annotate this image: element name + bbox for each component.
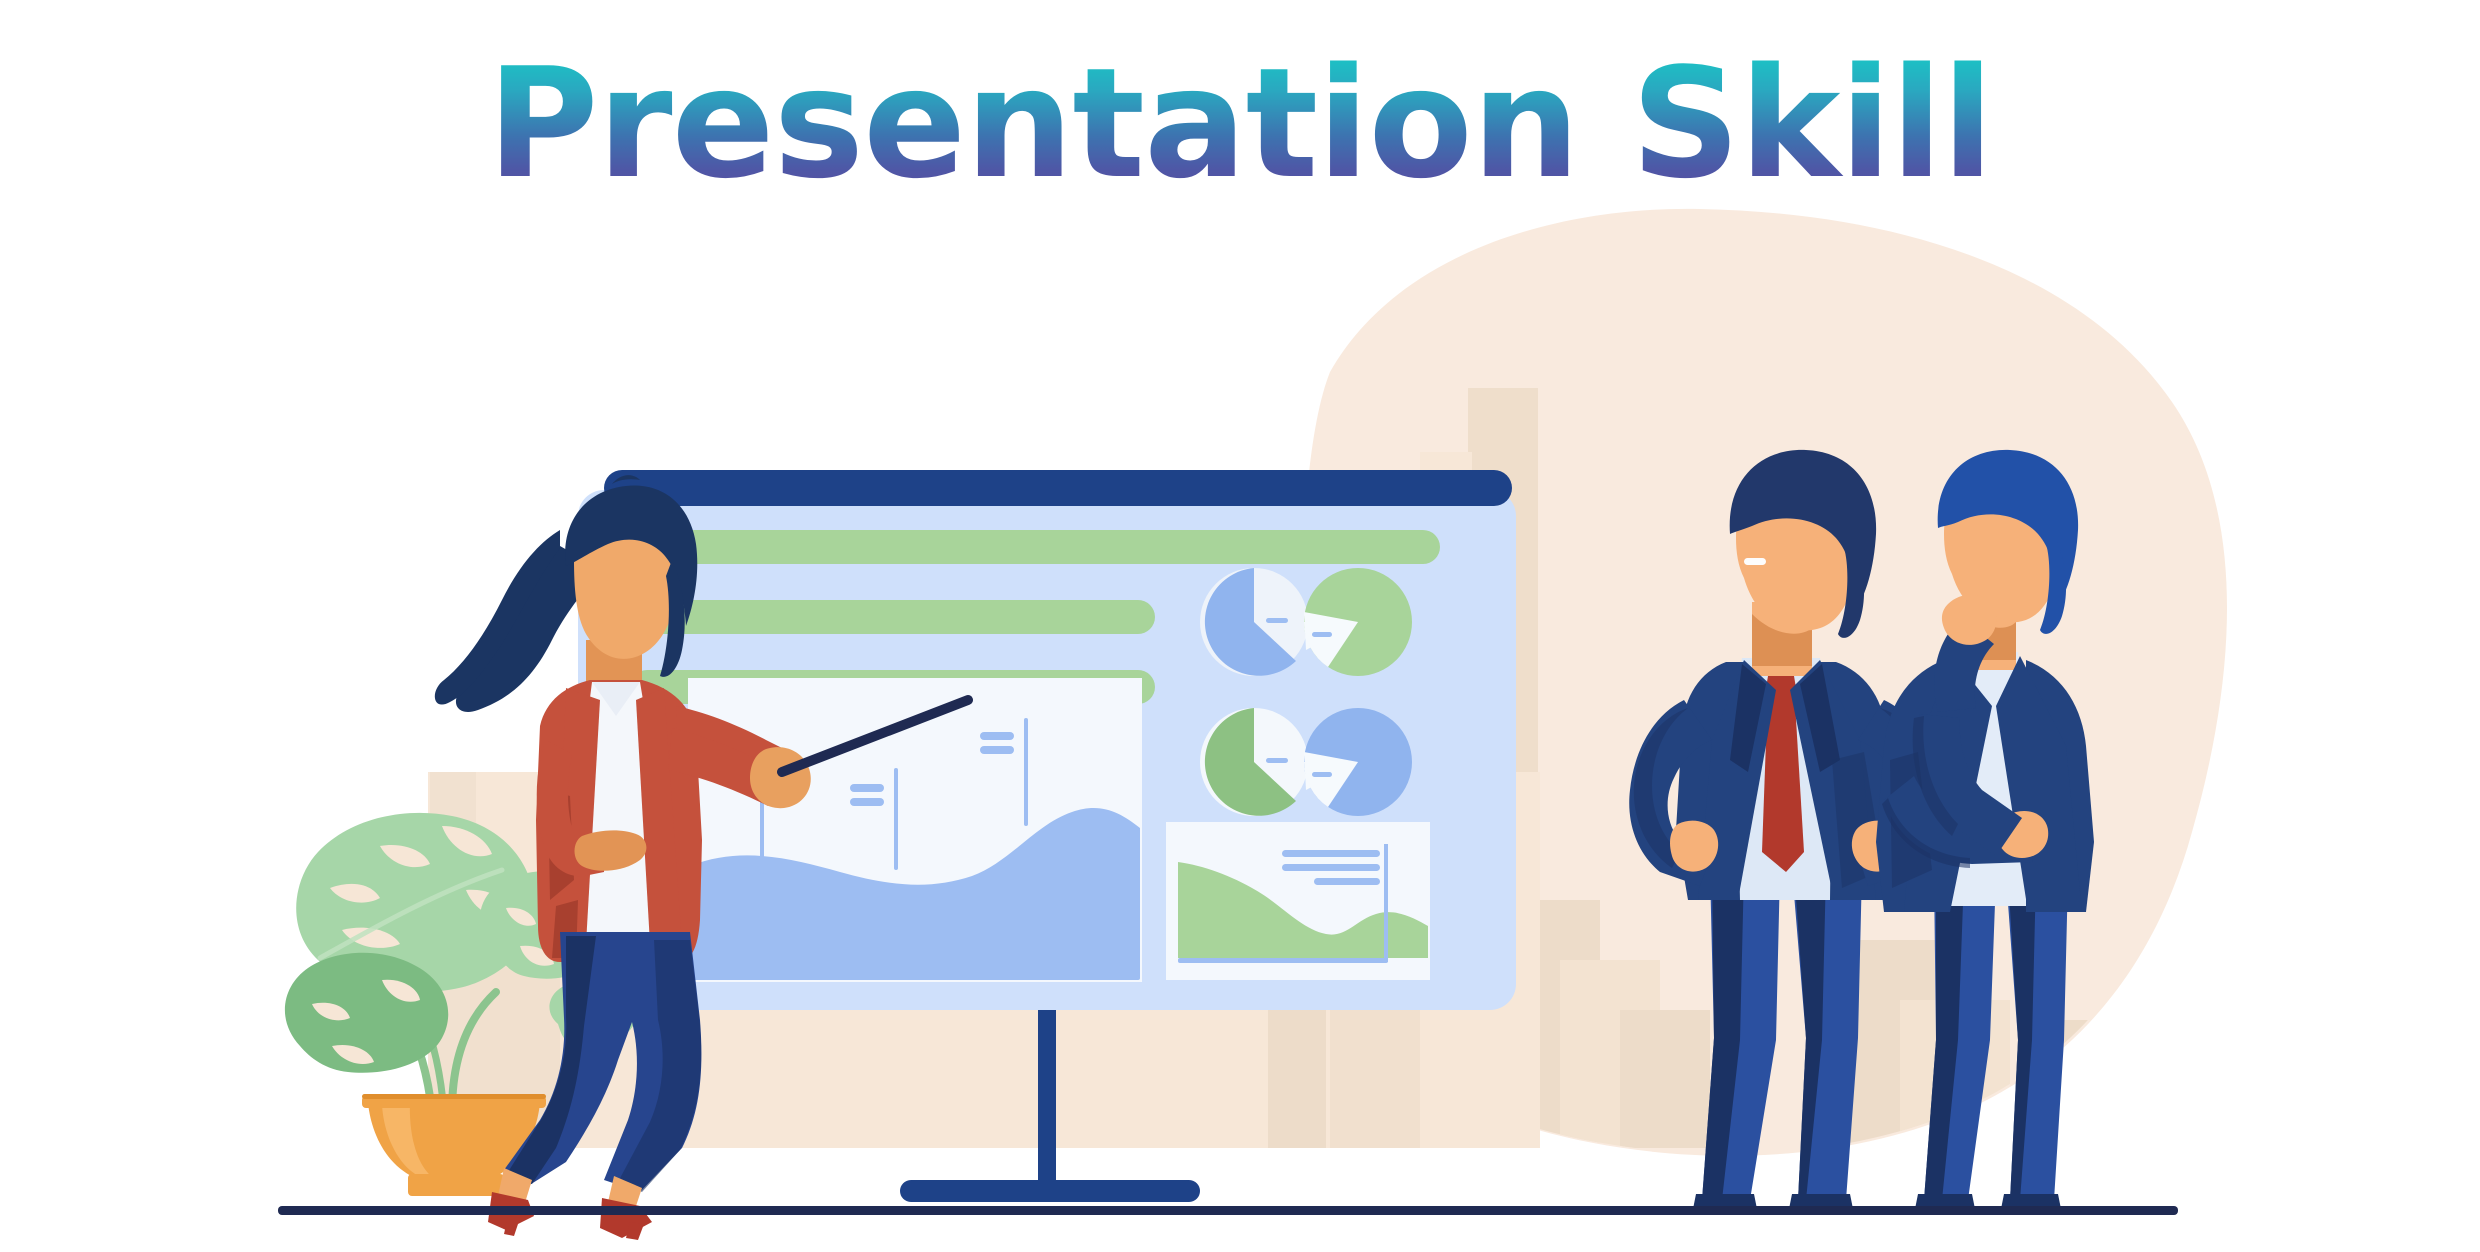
pie-chart-top-left[interactable]: [1200, 568, 1308, 676]
pie-chart-bottom-right[interactable]: [1304, 708, 1412, 816]
illustration-stage: Presentation Skill: [0, 0, 2480, 1252]
main-chart-label-2a: [980, 732, 1014, 740]
presentation-scene: [0, 0, 2480, 1252]
card-text-line-2: [1282, 864, 1380, 871]
card-text-line-3: [1314, 878, 1380, 885]
bullet-bar-2: [630, 600, 1155, 634]
main-chart-label-1a: [850, 784, 884, 792]
pie-chart-top-right[interactable]: [1304, 568, 1412, 676]
woman-shoe-right: [600, 1198, 652, 1238]
pie-4-tick: [1312, 772, 1332, 777]
card-axis-horizontal: [1178, 958, 1388, 963]
pie-3-tick: [1266, 758, 1288, 763]
pie-2-tick: [1312, 632, 1332, 637]
board-stand-pole: [1038, 1000, 1056, 1180]
board-header-bar: [604, 470, 1512, 506]
floor-line: [278, 1206, 2178, 1215]
plant-pot-base: [408, 1174, 504, 1196]
pie-1-tick: [1266, 618, 1288, 623]
man1-eye: [1744, 558, 1766, 565]
card-axis-vertical: [1384, 844, 1388, 962]
pie-chart-bottom-left[interactable]: [1200, 708, 1308, 816]
board-stand-foot: [900, 1180, 1200, 1202]
plant-pot-rim-line: [362, 1094, 546, 1099]
card-text-line-1: [1282, 850, 1380, 857]
board-card-area-chart[interactable]: [1166, 822, 1430, 980]
main-chart-label-2b: [980, 746, 1014, 754]
main-chart-marker-3: [1024, 718, 1028, 826]
city-block-3: [1620, 1010, 1710, 1148]
bullet-bar-1: [630, 530, 1440, 564]
main-chart-marker-2: [894, 768, 898, 870]
main-chart-label-1b: [850, 798, 884, 806]
